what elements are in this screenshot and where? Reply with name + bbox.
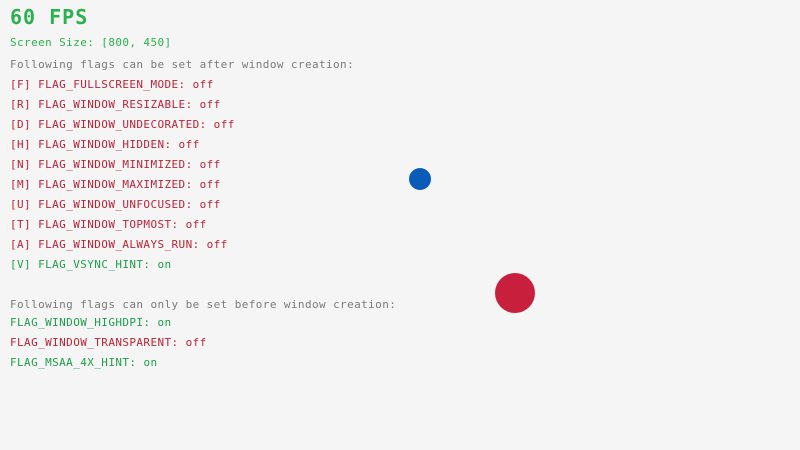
flag-value: on xyxy=(157,316,171,329)
flag-shortcut-key: [H] xyxy=(10,138,38,151)
flag-name: FLAG_WINDOW_ALWAYS_RUN: xyxy=(38,238,207,251)
flag-value: on xyxy=(157,258,171,271)
screen-size-label: Screen Size: [800, 450] xyxy=(10,37,172,49)
red-ball xyxy=(495,273,535,313)
flag-row[interactable]: FLAG_WINDOW_HIGHDPI: on xyxy=(10,317,207,337)
flag-name: FLAG_FULLSCREEN_MODE: xyxy=(38,78,193,91)
flag-name: FLAG_WINDOW_HIDDEN: xyxy=(38,138,178,151)
flag-value: off xyxy=(200,198,221,211)
fps-counter: 60 FPS xyxy=(10,7,88,27)
flag-row[interactable]: [T] FLAG_WINDOW_TOPMOST: off xyxy=(10,219,235,239)
flag-row[interactable]: [V] FLAG_VSYNC_HINT: on xyxy=(10,259,235,279)
flag-shortcut-key: [N] xyxy=(10,158,38,171)
flag-shortcut-key: [R] xyxy=(10,98,38,111)
flag-list-after-creation: [F] FLAG_FULLSCREEN_MODE: off[R] FLAG_WI… xyxy=(10,79,235,279)
flag-row[interactable]: FLAG_WINDOW_TRANSPARENT: off xyxy=(10,337,207,357)
section-header-after-creation: Following flags can be set after window … xyxy=(10,59,354,71)
flag-value: off xyxy=(214,118,235,131)
flag-name: FLAG_WINDOW_UNFOCUSED: xyxy=(38,198,200,211)
flag-row[interactable]: [F] FLAG_FULLSCREEN_MODE: off xyxy=(10,79,235,99)
flag-name: FLAG_WINDOW_RESIZABLE: xyxy=(38,98,200,111)
section-header-before-creation: Following flags can only be set before w… xyxy=(10,299,396,311)
flag-row[interactable]: [A] FLAG_WINDOW_ALWAYS_RUN: off xyxy=(10,239,235,259)
flag-value: off xyxy=(207,238,228,251)
flag-row[interactable]: [U] FLAG_WINDOW_UNFOCUSED: off xyxy=(10,199,235,219)
flag-row[interactable]: [H] FLAG_WINDOW_HIDDEN: off xyxy=(10,139,235,159)
flag-row[interactable]: [R] FLAG_WINDOW_RESIZABLE: off xyxy=(10,99,235,119)
flag-shortcut-key: [T] xyxy=(10,218,38,231)
flag-name: FLAG_WINDOW_MAXIMIZED: xyxy=(38,178,200,191)
flag-shortcut-key: [F] xyxy=(10,78,38,91)
flag-shortcut-key: [U] xyxy=(10,198,38,211)
flag-name: FLAG_WINDOW_TRANSPARENT: xyxy=(10,336,186,349)
flag-value: off xyxy=(193,78,214,91)
flag-list-before-creation: FLAG_WINDOW_HIGHDPI: onFLAG_WINDOW_TRANS… xyxy=(10,317,207,377)
flag-shortcut-key: [A] xyxy=(10,238,38,251)
flag-name: FLAG_VSYNC_HINT: xyxy=(38,258,157,271)
flag-row[interactable]: [N] FLAG_WINDOW_MINIMIZED: off xyxy=(10,159,235,179)
flag-shortcut-key: [M] xyxy=(10,178,38,191)
app-window[interactable]: 60 FPS Screen Size: [800, 450] Following… xyxy=(0,0,800,450)
flag-value: off xyxy=(200,98,221,111)
flag-name: FLAG_WINDOW_HIGHDPI: xyxy=(10,316,157,329)
flag-shortcut-key: [V] xyxy=(10,258,38,271)
flag-value: on xyxy=(143,356,157,369)
flag-shortcut-key: [D] xyxy=(10,118,38,131)
blue-ball xyxy=(409,168,431,190)
flag-name: FLAG_WINDOW_UNDECORATED: xyxy=(38,118,214,131)
flag-name: FLAG_WINDOW_TOPMOST: xyxy=(38,218,185,231)
flag-row[interactable]: [D] FLAG_WINDOW_UNDECORATED: off xyxy=(10,119,235,139)
flag-value: off xyxy=(200,158,221,171)
flag-value: off xyxy=(186,336,207,349)
flag-value: off xyxy=(186,218,207,231)
flag-row[interactable]: [M] FLAG_WINDOW_MAXIMIZED: off xyxy=(10,179,235,199)
flag-name: FLAG_WINDOW_MINIMIZED: xyxy=(38,158,200,171)
flag-value: off xyxy=(179,138,200,151)
flag-name: FLAG_MSAA_4X_HINT: xyxy=(10,356,143,369)
flag-value: off xyxy=(200,178,221,191)
flag-row[interactable]: FLAG_MSAA_4X_HINT: on xyxy=(10,357,207,377)
